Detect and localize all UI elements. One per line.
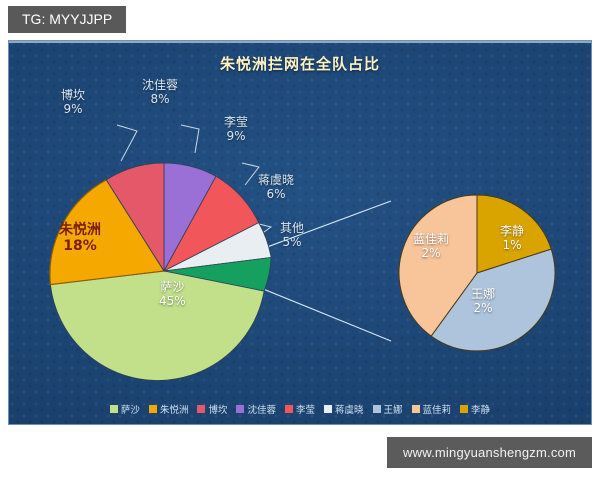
legend-item-bokan[interactable]: 博坎 [197,402,227,416]
legend-item-liying[interactable]: 李莹 [285,402,315,416]
chart-legend: 萨沙 朱悦洲 博坎 沈佳蓉 李莹 蒋虞晓 [9,402,591,416]
legend-label: 博坎 [208,402,227,416]
legend-label: 蓝佳莉 [423,402,452,416]
legend-item-lijing[interactable]: 李静 [460,402,490,416]
legend-swatch-icon [110,405,118,413]
legend-label: 萨沙 [121,402,140,416]
legend-item-jiangyuxiao[interactable]: 蒋虞晓 [324,402,364,416]
breakout-connectors [251,201,391,341]
website-watermark: www.mingyuanshengzm.com [387,437,592,468]
legend-label: 沈佳蓉 [247,402,276,416]
legend-label: 李静 [471,402,490,416]
slice-sasha[interactable] [50,271,264,380]
legend-label: 李莹 [296,402,315,416]
legend-swatch-icon [412,405,420,413]
main-pie [50,163,271,380]
chart-panel: 朱悦洲拦网在全队占比 [8,40,592,425]
legend-swatch-icon [197,405,205,413]
legend-swatch-icon [324,405,332,413]
telegram-watermark: TG: MYYJJPP [8,6,126,33]
legend-item-wangna[interactable]: 王娜 [373,402,403,416]
legend-item-lanjiali[interactable]: 蓝佳莉 [412,402,452,416]
legend-item-zhuyuezhou[interactable]: 朱悦洲 [149,402,189,416]
legend-swatch-icon [236,405,244,413]
legend-swatch-icon [460,405,468,413]
legend-label: 王娜 [384,402,403,416]
legend-label: 蒋虞晓 [335,402,364,416]
screenshot-root: 朱悦洲拦网在全队占比 [0,0,600,480]
legend-swatch-icon [149,405,157,413]
pie-chart-graphic [9,41,592,425]
legend-item-shenjiarong[interactable]: 沈佳蓉 [236,402,276,416]
legend-swatch-icon [373,405,381,413]
legend-label: 朱悦洲 [160,402,189,416]
breakout-pie [399,195,555,351]
legend-item-sasha[interactable]: 萨沙 [110,402,140,416]
legend-swatch-icon [285,405,293,413]
